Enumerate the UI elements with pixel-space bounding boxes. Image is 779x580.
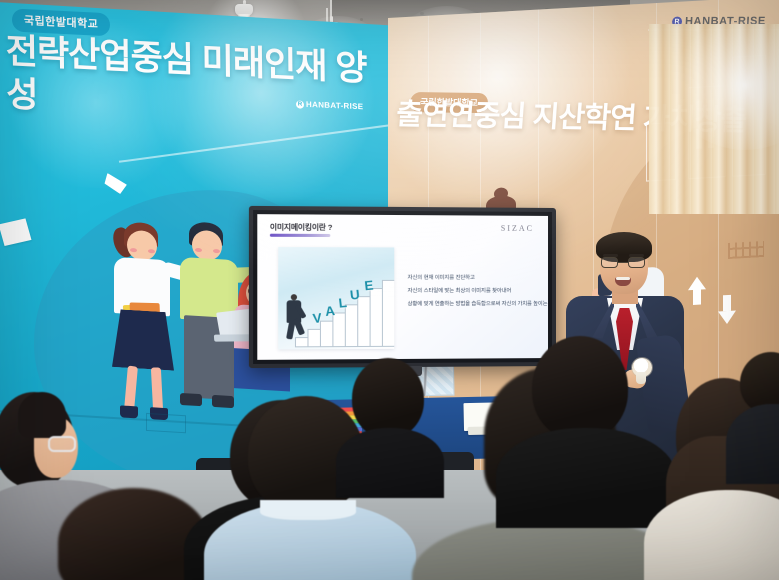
illustration-cheek (213, 249, 220, 253)
slide-photo-letter: U (349, 287, 360, 303)
audience-head (532, 336, 628, 440)
slide-title: 이미지메이킹이란 ? (270, 221, 332, 233)
slide-photo-letter: A (324, 303, 335, 319)
slide-photo-letter: V (312, 310, 323, 326)
illustration-cheek (195, 248, 202, 252)
audience-shoulders (496, 428, 676, 528)
slide-photo-letter: E (364, 277, 374, 293)
slide-canvas: 이미지메이킹이란 ? SIZAC V A L U E (257, 214, 548, 360)
slide-photo-stairs: V A L U E (278, 247, 394, 349)
arrow-up-stem (693, 289, 701, 305)
presentation-screen[interactable]: 이미지메이킹이란 ? SIZAC V A L U E (249, 206, 556, 368)
slide-body-line: 자신의 현재 이미지를 진단하고 (408, 276, 539, 282)
presenter-mouth (615, 277, 631, 286)
audience-hair-front (18, 392, 66, 438)
illustration-paper (0, 218, 31, 246)
window-blinds (649, 24, 779, 214)
illustration-cheek (130, 248, 137, 252)
arrow-down-stem (723, 295, 731, 311)
slide-body-text: 자신의 현재 이미지를 진단하고 자신의 스타일에 맞는 최상의 이미지를 찾아… (408, 276, 539, 315)
audience-member (740, 352, 779, 472)
illustration-dot-grid (728, 241, 764, 259)
audience-collar (260, 500, 356, 520)
audience-head (352, 358, 424, 438)
audience-member (512, 336, 662, 506)
slide-body-line: 상황에 맞게 연출하는 방법을 습득함으로써 자신의 가치를 높이는 것 (408, 302, 539, 308)
slide-body-line: 자신의 스타일에 맞는 최상의 이미지를 찾아내어 (408, 289, 539, 295)
audience-glasses (48, 436, 76, 452)
rise-circle-icon: R (296, 100, 304, 108)
illustration-cheek (148, 249, 155, 253)
slide-photo-letter: L (338, 295, 348, 311)
arrow-down-icon (718, 311, 736, 325)
seminar-photo-scene: R HANBAT-RISE 국립한밭대학교 출연연중심 지산학연 가치창출 (0, 0, 779, 580)
audience-shoulders (644, 490, 779, 580)
spotlight-lamp (235, 4, 253, 16)
slide-brand-logo: SIZAC (501, 224, 534, 233)
slide-title-underline (270, 234, 330, 237)
illustration-skirt (112, 309, 174, 371)
presenter-glasses (601, 257, 647, 268)
audience-shoulders (336, 428, 444, 498)
audience-member (352, 358, 428, 468)
banner-outline-box (146, 413, 186, 433)
